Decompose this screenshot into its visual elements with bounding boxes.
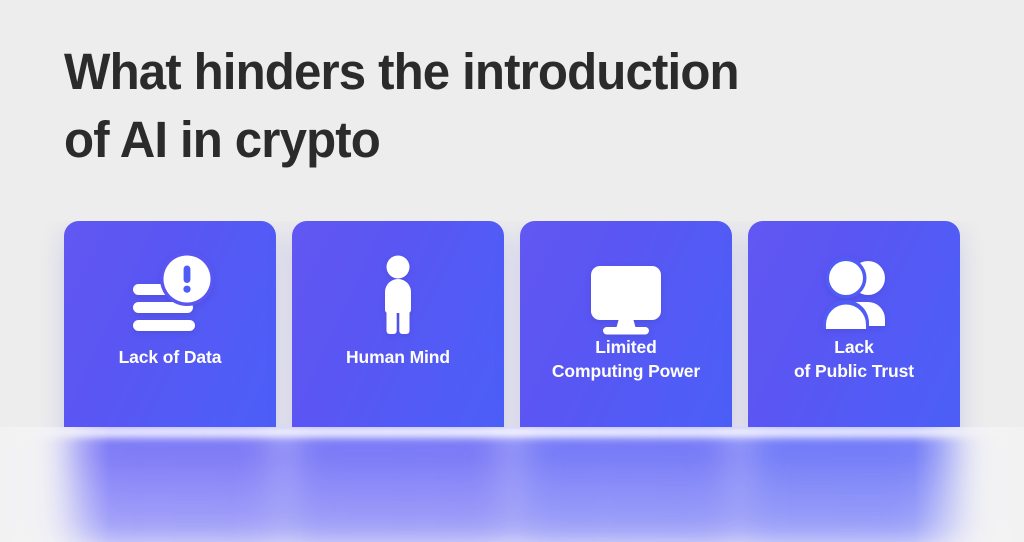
card-lack-of-data[interactable]: Lack of Data <box>64 221 276 427</box>
card-label-human-mind: Human Mind <box>300 345 496 417</box>
cards-viewport: Lack of Data Human Mind <box>0 221 1024 427</box>
card-label-line-1: Human Mind <box>346 345 450 369</box>
cards-row: Lack of Data Human Mind <box>64 221 960 427</box>
glow-column <box>520 427 732 542</box>
glow-fade-left <box>0 427 110 542</box>
users-group-icon <box>748 249 960 341</box>
card-limited-computing-power[interactable]: Limited Computing Power <box>520 221 732 427</box>
card-label-limited-computing-power: Limited Computing Power <box>528 335 724 407</box>
card-label-line-1: Lack of Data <box>119 345 222 369</box>
card-label-lack-of-public-trust: Lack of Public Trust <box>756 335 952 407</box>
card-label-line-1: Lack <box>834 335 874 359</box>
glow-fade-right <box>914 427 1024 542</box>
card-label-line-1: Limited <box>595 335 657 359</box>
card-lack-of-public-trust[interactable]: Lack of Public Trust <box>748 221 960 427</box>
card-label-line-2: of Public Trust <box>794 359 914 383</box>
card-label-line-2: Computing Power <box>552 359 700 383</box>
document-lines-alert-icon <box>64 249 276 341</box>
page-title-line-1: What hinders the introduction <box>64 38 894 106</box>
card-label-lack-of-data: Lack of Data <box>72 345 268 417</box>
card-human-mind[interactable]: Human Mind <box>292 221 504 427</box>
glow-column <box>292 427 504 542</box>
page-title-line-2: of AI in crypto <box>64 106 894 174</box>
monitor-icon <box>520 249 732 341</box>
glow-column-group <box>64 427 960 542</box>
person-icon <box>292 249 504 341</box>
glow-highlight-line <box>0 427 1024 437</box>
infographic-root: What hinders the introduction of AI in c… <box>0 0 1024 542</box>
bottom-glow-reflection <box>0 427 1024 542</box>
page-title: What hinders the introduction of AI in c… <box>64 38 924 174</box>
